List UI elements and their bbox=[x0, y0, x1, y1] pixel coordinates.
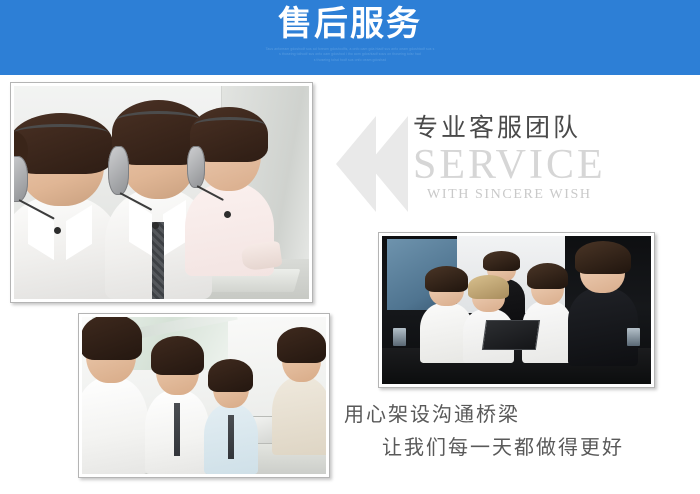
meeting-figure-4-presenter bbox=[272, 333, 326, 455]
glass-shape-left bbox=[393, 328, 406, 346]
double-chevron-left-icon bbox=[336, 116, 420, 212]
page-title: 售后服务 bbox=[0, 4, 700, 44]
agent-figure-3 bbox=[185, 114, 274, 276]
meeting-figure-2 bbox=[145, 342, 208, 474]
headline-english-subtitle: WITH SINCERE WISH bbox=[413, 186, 693, 204]
agent-figure-1 bbox=[14, 120, 120, 299]
headline-block: 专业客服团队 SERVICE WITH SINCERE WISH bbox=[413, 112, 693, 204]
photo-dark-meeting bbox=[378, 232, 655, 388]
photo-call-center-team bbox=[10, 82, 313, 303]
meeting-figure-1 bbox=[82, 322, 148, 474]
photo-bright-meeting bbox=[78, 313, 330, 478]
headline-english: SERVICE bbox=[413, 142, 693, 188]
meeting-figure-3 bbox=[204, 364, 258, 474]
slogan-block: 用心架设沟通桥梁 让我们每一天都做得更好 bbox=[344, 398, 684, 464]
banner-subtext: Taus anfoream gdoshodf sus ad foream gdo… bbox=[0, 47, 700, 63]
header-banner: 售后服务 Taus anfoream gdoshodf sus ad forea… bbox=[0, 0, 700, 75]
page-root: 售后服务 Taus anfoream gdoshodf sus ad forea… bbox=[0, 0, 700, 494]
laptop-shape bbox=[482, 320, 540, 350]
banner-subtext-line-3: s thoseing tolsd hodf sus onfo oeam gdos… bbox=[0, 58, 700, 63]
headset-icon bbox=[108, 146, 129, 196]
headline-chinese: 专业客服团队 bbox=[413, 112, 693, 144]
slogan-line-1: 用心架设沟通桥梁 bbox=[344, 398, 684, 431]
headset-icon bbox=[187, 146, 205, 188]
glass-shape-right bbox=[627, 328, 640, 346]
dark-meeting-figure-5 bbox=[568, 248, 638, 366]
slogan-line-2: 让我们每一天都做得更好 bbox=[344, 431, 684, 464]
